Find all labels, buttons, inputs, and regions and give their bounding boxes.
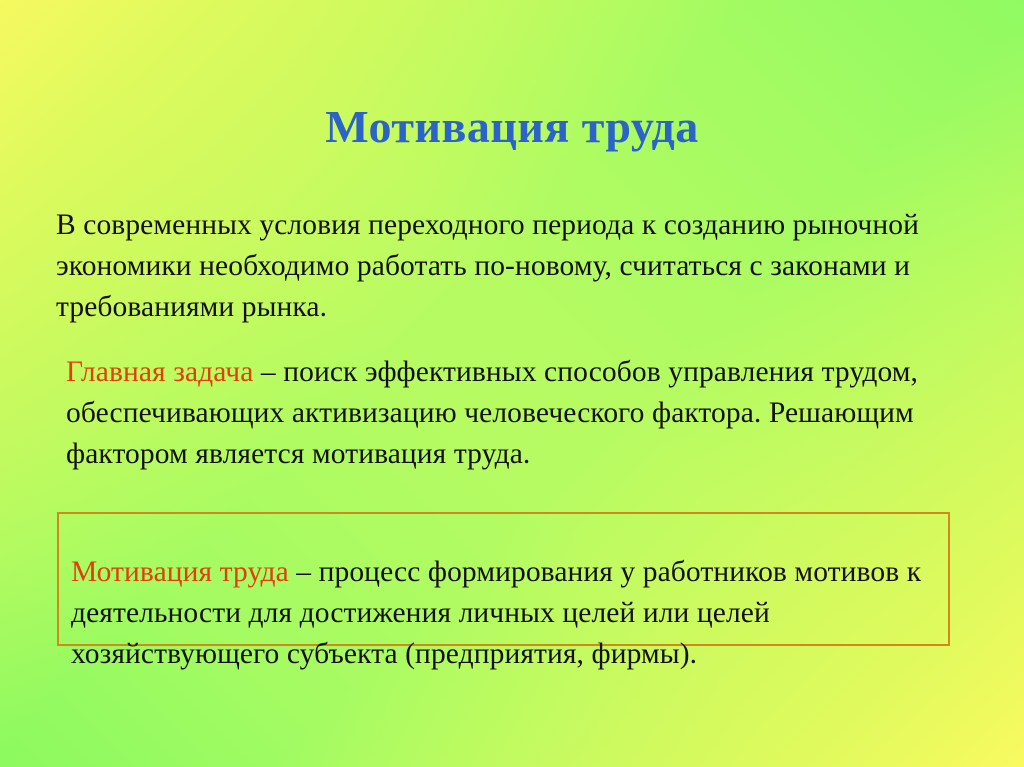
definition-box: Мотивация труда – процесс формирования у… (57, 512, 950, 646)
page-title: Мотивация труда (0, 103, 1024, 151)
definition-accent-term: Мотивация труда (71, 556, 289, 588)
task-paragraph: Главная задача – поиск эффективных спосо… (66, 352, 966, 475)
definition-paragraph: Мотивация труда – процесс формирования у… (71, 552, 941, 675)
slide: Мотивация труда В современных условия пе… (0, 0, 1024, 767)
intro-paragraph: В современных условия переходного период… (56, 205, 966, 328)
task-accent-term: Главная задача (66, 356, 253, 388)
